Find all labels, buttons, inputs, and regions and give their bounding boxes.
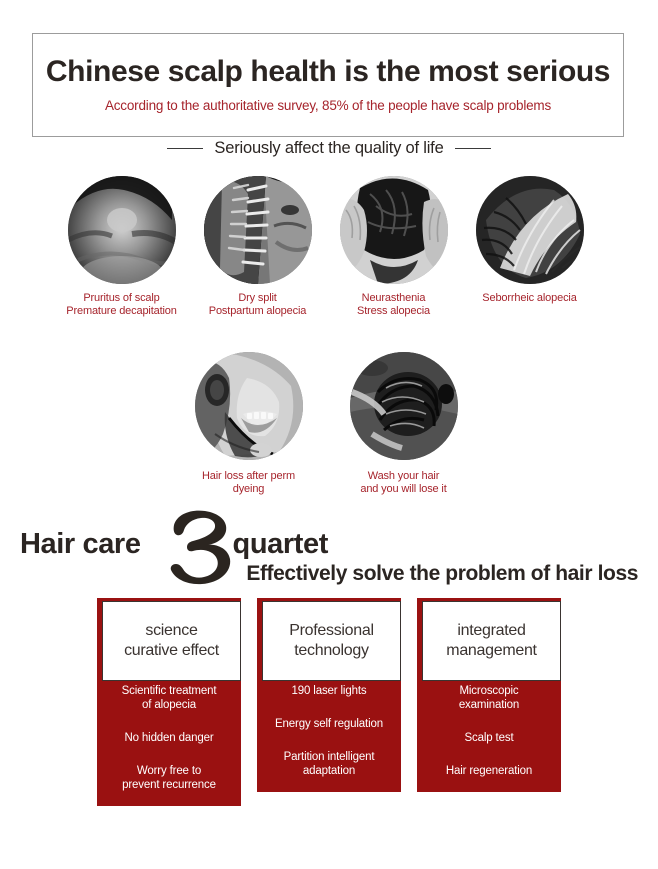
symptom-caption: Seborrheic alopecia [482,292,576,305]
quartet-headline: Hair care quartet [20,528,328,561]
feature-item: Worry free to prevent recurrence [97,764,241,792]
page-title: Chinese scalp health is the most serious [46,56,610,88]
symptom-item: Wash your hair and you will lose it [341,352,466,496]
hair-in-drain-photo [350,352,458,460]
symptom-item: Hair loss after perm dyeing [186,352,311,496]
perm-rollers-face-photo [195,352,303,460]
quartet-headline-block: Hair care quartet Effectively solve the … [20,520,638,590]
symptom-item: Dry split Postpartum alopecia [202,176,313,318]
feature-item: Scalp test [417,731,561,745]
rule-left-icon [167,148,203,149]
feature-card-technology[interactable]: 190 laser lights Energy self regulation … [257,598,401,806]
feature-card-science[interactable]: Scientific treatment of alopecia No hidd… [97,598,241,806]
thinning-parting-photo [476,176,584,284]
feature-item: Hair regeneration [417,764,561,778]
feature-item: Energy self regulation [257,717,401,731]
symptom-item: Pruritus of scalp Premature decapitation [66,176,177,318]
head-in-hands-stress-photo [340,176,448,284]
symptom-row-2: Hair loss after perm dyeing [186,352,466,496]
symptom-item: Seborrheic alopecia [474,176,585,318]
hairbrush-combing-photo [204,176,312,284]
balding-crown-photo [68,176,176,284]
symptom-caption: Pruritus of scalp Premature decapitation [66,292,176,318]
feature-card-title: Professional technology [262,601,401,681]
feature-item: Microscopic examination [417,684,561,712]
affect-tagline: Seriously affect the quality of life [214,139,443,158]
feature-cards-row: Scientific treatment of alopecia No hidd… [97,598,561,806]
header-banner: Chinese scalp health is the most serious… [32,33,624,137]
rule-right-icon [455,148,491,149]
feature-card-management[interactable]: Microscopic examination Scalp test Hair … [417,598,561,806]
feature-item: 190 laser lights [257,684,401,698]
symptom-caption: Neurasthenia Stress alopecia [357,292,430,318]
quartet-tagline: Effectively solve the problem of hair lo… [246,562,638,586]
quartet-post-text: quartet [233,528,329,561]
quartet-pre-text: Hair care [20,528,141,561]
feature-item: No hidden danger [97,731,241,745]
feature-card-title: science curative effect [102,601,241,681]
symptom-caption: Wash your hair and you will lose it [360,470,446,496]
symptom-item: Neurasthenia Stress alopecia [338,176,449,318]
feature-card-title: integrated management [422,601,561,681]
symptom-row-1: Pruritus of scalp Premature decapitation [66,176,585,318]
affect-tagline-row: Seriously affect the quality of life [0,139,658,158]
symptom-caption: Dry split Postpartum alopecia [209,292,306,318]
symptom-caption: Hair loss after perm dyeing [186,470,311,496]
feature-item: Scientific treatment of alopecia [97,684,241,712]
page-subtitle: According to the authoritative survey, 8… [105,99,551,114]
feature-item: Partition intelligent adaptation [257,750,401,778]
